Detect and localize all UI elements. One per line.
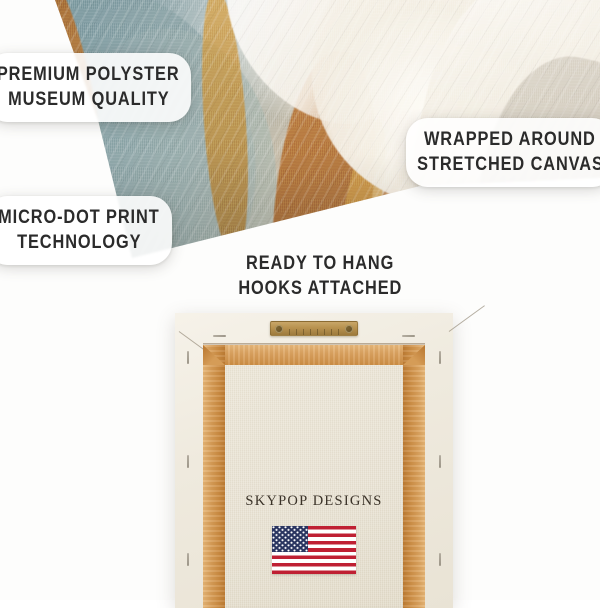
feature-line: PREMIUM POLYSTER [0,63,180,88]
feature-badge-micro-dot-print: MICRO-DOT PRINT TECHNOLOGY [0,196,172,265]
staple [439,553,441,566]
staple [187,351,189,364]
feature-line: STRETCHED CANVAS [417,153,600,178]
stretcher-bar-left [203,345,225,608]
feature-line: MUSEUM QUALITY [8,88,169,113]
staple [187,455,189,468]
feature-badge-wrapped-canvas: WRAPPED AROUND STRETCHED CANVAS [406,118,600,187]
flag-canton [272,526,308,552]
feature-line: WRAPPED AROUND [424,128,596,153]
staple [213,335,226,337]
canvas-corner-fold [449,305,485,332]
stretcher-bar-top [203,345,425,365]
us-flag-icon [272,526,356,574]
staple [187,553,189,566]
sawtooth-hanger-icon [270,321,358,336]
feature-caption-ready-to-hang: READY TO HANG HOOKS ATTACHED [222,251,418,301]
hanger-screw-hole [275,325,283,333]
hanger-teeth [287,329,341,335]
flag-stars [272,526,308,552]
staple [439,351,441,364]
staple [439,455,441,468]
feature-badge-premium-polyster: PREMIUM POLYSTER MUSEUM QUALITY [0,53,191,122]
hanger-screw-hole [345,325,353,333]
brand-label: SKYPOP DESIGNS [175,493,453,510]
feature-line: MICRO-DOT PRINT [0,206,160,231]
canvas-back-view: SKYPOP DESIGNS [175,313,453,608]
staple [402,335,415,337]
product-infographic: PREMIUM POLYSTER MUSEUM QUALITY WRAPPED … [0,0,600,600]
caption-line: HOOKS ATTACHED [238,276,402,301]
stretcher-bar-right [403,345,425,608]
feature-line: TECHNOLOGY [17,231,141,256]
caption-line: READY TO HANG [246,251,394,276]
